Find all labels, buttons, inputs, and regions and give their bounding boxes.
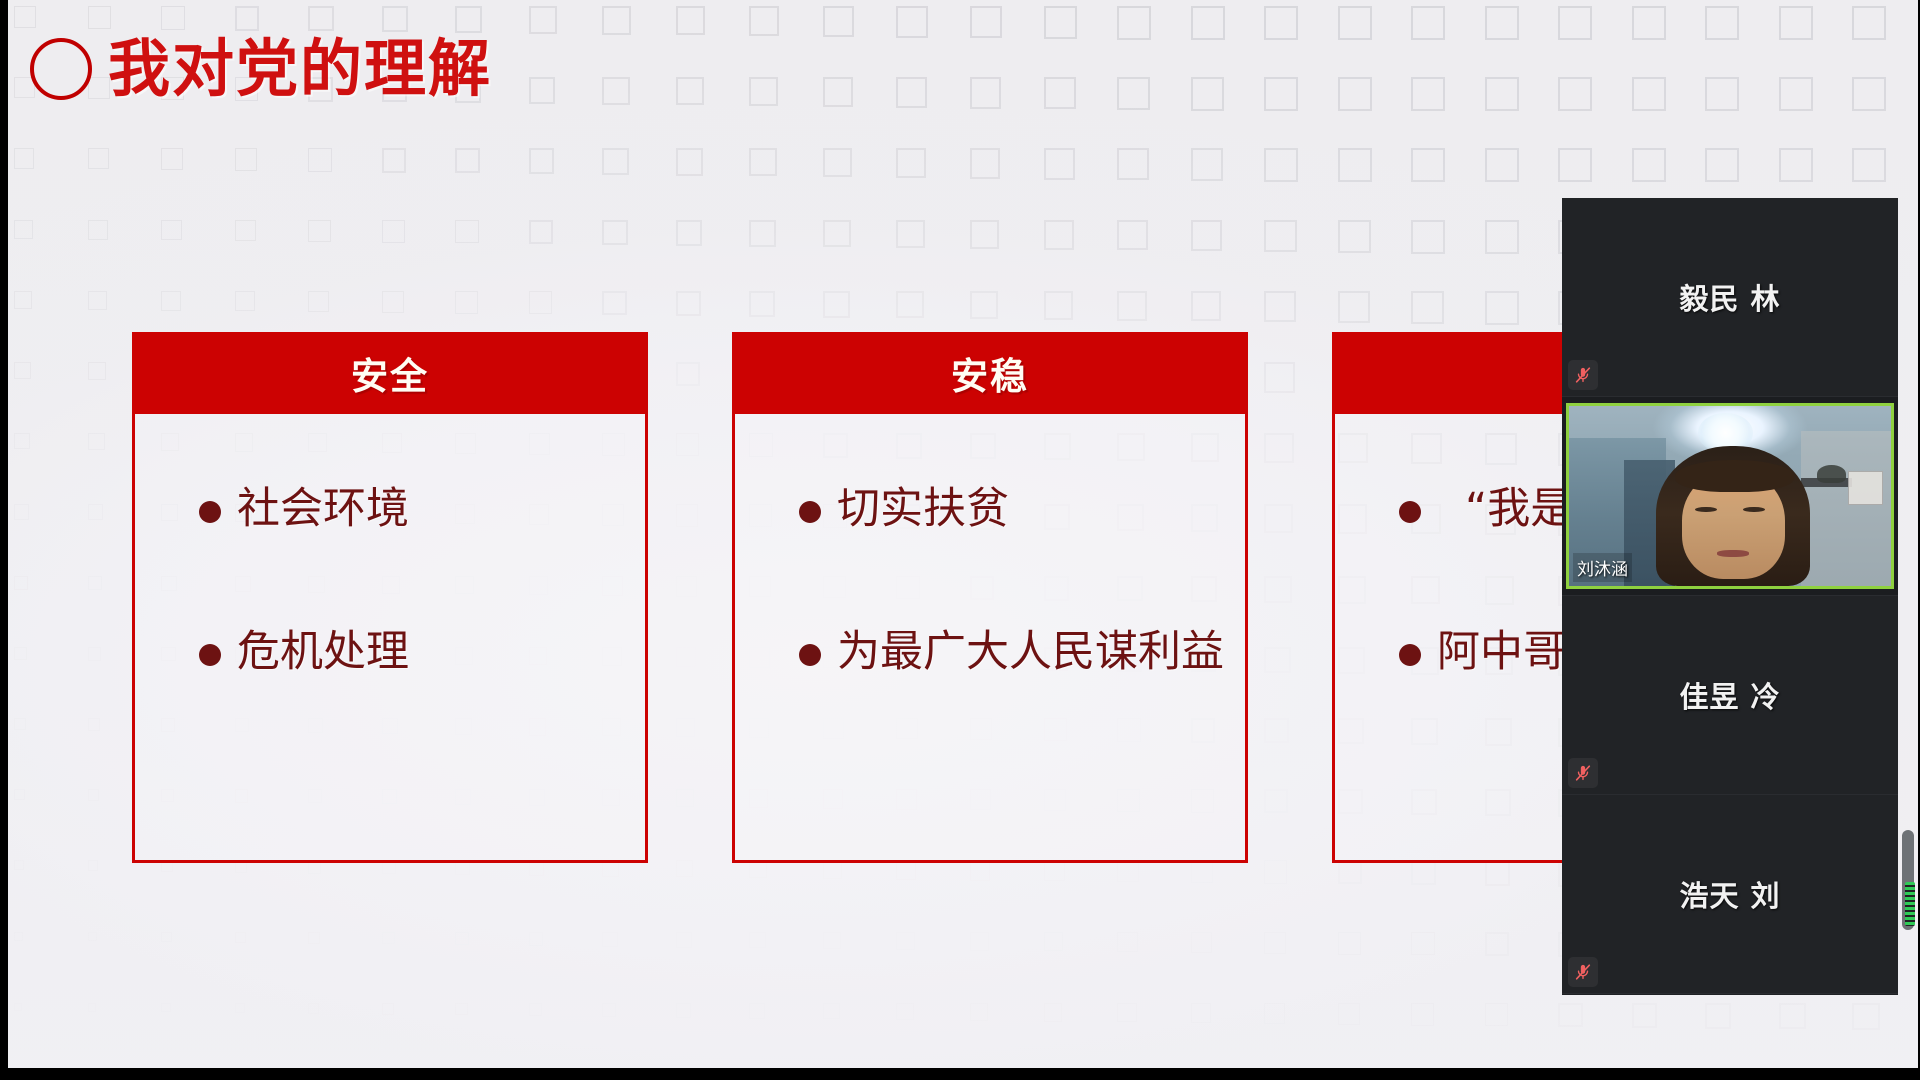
- bullet-dot-icon: [199, 644, 221, 666]
- background-square: [529, 6, 557, 34]
- participant-filmstrip[interactable]: 毅民 林: [1562, 198, 1898, 995]
- page-title: 我对党的理解: [108, 38, 492, 100]
- scrollbar-thumb[interactable]: [1902, 830, 1914, 930]
- background-square: [1485, 77, 1519, 111]
- background-square: [896, 6, 928, 38]
- background-square: [823, 860, 842, 879]
- background-square: [1191, 1003, 1212, 1024]
- background-square: [1044, 291, 1073, 320]
- background-square: [1779, 77, 1813, 111]
- background-square: [382, 148, 406, 172]
- background-square: [602, 6, 631, 35]
- background-square: [455, 932, 469, 946]
- background-square: [1117, 291, 1147, 321]
- background-square: [1779, 1003, 1806, 1030]
- background-square: [1632, 1003, 1657, 1028]
- background-square: [382, 1003, 394, 1015]
- background-square: [88, 860, 99, 871]
- background-square: [1411, 291, 1444, 324]
- background-square: [896, 77, 927, 108]
- background-square: [308, 932, 320, 944]
- background-square: [970, 220, 999, 249]
- participant-tile[interactable]: 佳昱 冷: [1562, 596, 1898, 795]
- background-square: [676, 291, 701, 316]
- background-square: [1117, 6, 1151, 40]
- background-square: [749, 77, 778, 106]
- background-square: [1338, 6, 1372, 40]
- background-square: [1044, 77, 1076, 109]
- background-square: [1485, 291, 1519, 325]
- background-square: [602, 148, 629, 175]
- card-body-stability: 切实扶贫 为最广大人民谋利益: [732, 414, 1248, 863]
- mic-muted-icon: [1568, 758, 1598, 788]
- background-square: [1117, 1003, 1137, 1023]
- background-square: [529, 932, 544, 947]
- background-square: [676, 77, 704, 105]
- background-square: [1338, 1003, 1360, 1025]
- background-square: [1411, 6, 1445, 40]
- background-square: [1117, 148, 1149, 180]
- background-square: [676, 1003, 691, 1018]
- background-square: [1338, 860, 1362, 884]
- background-square: [529, 77, 556, 104]
- background-square: [14, 504, 29, 519]
- card-header-stability: 安稳: [732, 332, 1248, 414]
- background-square: [455, 6, 482, 33]
- background-square: [1411, 860, 1436, 885]
- background-square: [1705, 148, 1739, 182]
- participant-name: 毅民 林: [1679, 276, 1780, 318]
- background-square: [749, 148, 777, 176]
- background-square: [1779, 6, 1813, 40]
- background-square: [235, 220, 257, 242]
- background-square: [1044, 220, 1074, 250]
- background-square: [235, 932, 246, 943]
- bullet-label: 切实扶贫: [837, 486, 1009, 533]
- background-square: [1191, 860, 1214, 883]
- background-square: [749, 860, 767, 878]
- audio-level-indicator: [1905, 882, 1915, 926]
- background-square: [382, 291, 404, 313]
- background-square: [970, 6, 1002, 38]
- bullet-label: 社会环境: [237, 486, 409, 533]
- background-square: [1117, 220, 1148, 251]
- background-square: [14, 1003, 22, 1011]
- background-square: [235, 148, 258, 171]
- card-header-safety: 安全: [132, 332, 648, 414]
- background-square: [88, 433, 105, 450]
- participant-name: 佳昱 冷: [1679, 674, 1780, 716]
- background-square: [88, 576, 103, 591]
- background-square: [88, 647, 102, 661]
- background-square: [970, 932, 989, 951]
- background-square: [970, 291, 998, 319]
- background-square: [308, 6, 333, 31]
- background-square: [749, 6, 779, 36]
- background-square: [14, 718, 26, 730]
- background-square: [1485, 1003, 1509, 1027]
- bullet-label: “我是: [1465, 486, 1573, 533]
- background-square: [749, 291, 775, 317]
- background-square: [1117, 77, 1150, 110]
- background-square: [1338, 932, 1361, 955]
- background-square: [88, 1003, 97, 1012]
- background-square: [1044, 932, 1064, 952]
- background-square: [1338, 220, 1371, 253]
- mic-muted-icon: [1568, 957, 1598, 987]
- background-square: [1485, 6, 1519, 40]
- background-square: [602, 77, 630, 105]
- participant-tile[interactable]: 毅民 林: [1562, 198, 1898, 397]
- background-square: [88, 362, 106, 380]
- background-square: [308, 148, 331, 171]
- card-body-safety: 社会环境 危机处理: [132, 414, 648, 863]
- background-square: [1779, 148, 1813, 182]
- card-header-label: 安稳: [951, 346, 1029, 400]
- webcam-person-bangs: [1675, 460, 1794, 492]
- background-square: [1558, 6, 1592, 40]
- background-square: [970, 77, 1001, 108]
- slide-title-row: 我对党的理解: [30, 38, 492, 100]
- circle-outline-icon: [30, 38, 92, 100]
- bullet-dot-icon: [199, 501, 221, 523]
- background-square: [1264, 6, 1298, 40]
- background-square: [1191, 77, 1225, 111]
- background-square: [676, 6, 705, 35]
- background-square: [1338, 291, 1370, 323]
- background-square: [308, 1003, 319, 1014]
- background-square: [14, 576, 28, 590]
- background-square: [161, 932, 172, 943]
- background-square: [970, 1003, 988, 1021]
- background-square: [1264, 148, 1298, 182]
- background-square: [1632, 6, 1666, 40]
- background-square: [823, 77, 853, 107]
- background-square: [1264, 1003, 1285, 1024]
- background-square: [749, 1003, 765, 1019]
- webcam-person-mouth: [1717, 550, 1749, 557]
- background-square: [235, 291, 256, 312]
- background-square: [14, 860, 24, 870]
- background-square: [88, 504, 104, 520]
- background-square: [14, 932, 23, 941]
- list-item: 社会环境: [199, 486, 645, 533]
- background-square: [823, 220, 851, 248]
- list-item: 为最广大人民谋利益: [799, 629, 1245, 676]
- window-edge-bottom: [0, 1068, 1920, 1080]
- background-square: [1558, 1003, 1582, 1027]
- background-square: [455, 220, 479, 244]
- background-square: [529, 220, 554, 245]
- background-square: [88, 718, 101, 731]
- background-square: [1338, 148, 1372, 182]
- background-square: [676, 148, 703, 175]
- background-square: [602, 220, 628, 246]
- background-square: [823, 1003, 840, 1020]
- background-square: [161, 1003, 171, 1013]
- background-square: [455, 1003, 468, 1016]
- background-square: [970, 860, 990, 880]
- scrollbar-vertical[interactable]: [1900, 830, 1916, 1060]
- background-square: [1705, 6, 1739, 40]
- shared-screen: 我对党的理解 安全 社会环境 危机处理: [0, 0, 1920, 1080]
- bullet-dot-icon: [799, 501, 821, 523]
- background-square: [1264, 291, 1296, 323]
- background-square: [161, 220, 182, 241]
- participant-name: 刘沐涵: [1573, 553, 1632, 582]
- background-square: [1191, 6, 1225, 40]
- participant-tile[interactable]: 浩天 刘: [1562, 795, 1898, 994]
- background-square: [749, 220, 776, 247]
- background-square: [676, 220, 702, 246]
- background-square: [1632, 148, 1666, 182]
- background-square: [1264, 77, 1298, 111]
- bullet-dot-icon: [1399, 501, 1421, 523]
- background-square: [896, 932, 914, 950]
- background-square: [161, 291, 181, 311]
- background-square: [455, 291, 478, 314]
- background-square: [382, 220, 405, 243]
- background-square: [14, 291, 32, 309]
- background-square: [88, 6, 111, 29]
- background-square: [1044, 6, 1077, 39]
- background-square: [529, 148, 555, 174]
- background-square: [1852, 77, 1886, 111]
- background-square: [1044, 860, 1065, 881]
- background-square: [1705, 1003, 1731, 1029]
- background-square: [602, 1003, 616, 1017]
- background-square: [88, 291, 107, 310]
- background-square: [1044, 148, 1075, 179]
- background-square: [14, 220, 33, 239]
- window-edge-left: [0, 0, 8, 1080]
- background-square: [161, 6, 185, 30]
- background-square: [1117, 932, 1138, 953]
- background-square: [1264, 932, 1286, 954]
- background-square: [676, 932, 692, 948]
- list-item: 危机处理: [199, 629, 645, 676]
- background-square: [896, 1003, 913, 1020]
- background-square: [382, 6, 408, 32]
- background-square: [1411, 77, 1445, 111]
- background-square: [1558, 148, 1592, 182]
- background-square: [1191, 220, 1223, 252]
- background-square: [1044, 1003, 1063, 1022]
- background-square: [1411, 220, 1445, 254]
- background-square: [14, 789, 25, 800]
- participant-name: 浩天 刘: [1679, 873, 1780, 915]
- card-header-label: 安全: [351, 346, 429, 400]
- background-square: [896, 291, 924, 319]
- list-item: 切实扶贫: [799, 486, 1245, 533]
- participant-tile-active-speaker[interactable]: 刘沐涵: [1562, 397, 1898, 596]
- webcam-video: 刘沐涵: [1566, 403, 1894, 589]
- background-square: [14, 362, 31, 379]
- bullet-dot-icon: [799, 644, 821, 666]
- background-square: [823, 291, 850, 318]
- background-square: [308, 291, 329, 312]
- background-square: [749, 932, 766, 949]
- background-square: [14, 433, 30, 449]
- bullet-label: 为最广大人民谋利益: [837, 629, 1224, 676]
- background-square: [382, 932, 395, 945]
- background-square: [1485, 860, 1511, 886]
- webcam-bg-wall-right: [1801, 431, 1891, 586]
- background-square: [896, 860, 915, 879]
- mic-muted-icon: [1568, 360, 1598, 390]
- webcam-bg-picture-frame: [1848, 471, 1883, 505]
- background-square: [88, 932, 98, 942]
- background-square: [1411, 1003, 1434, 1026]
- background-square: [1191, 932, 1213, 954]
- background-square: [970, 148, 1000, 178]
- card-safety: 安全 社会环境 危机处理: [132, 332, 648, 863]
- background-square: [161, 148, 183, 170]
- background-square: [455, 148, 480, 173]
- background-square: [1264, 220, 1297, 253]
- background-square: [529, 1003, 543, 1017]
- background-square: [308, 220, 330, 242]
- background-square: [235, 1003, 245, 1013]
- background-square: [896, 148, 926, 178]
- webcam-bg-plant: [1817, 465, 1846, 483]
- background-square: [14, 647, 27, 660]
- card-stability: 安稳 切实扶贫 为最广大人民谋利益: [732, 332, 1248, 863]
- background-square: [1852, 148, 1886, 182]
- background-square: [1852, 1003, 1880, 1031]
- background-square: [1485, 932, 1510, 957]
- background-square: [1411, 148, 1445, 182]
- background-square: [1117, 860, 1139, 882]
- background-square: [88, 148, 109, 169]
- background-square: [896, 220, 925, 249]
- background-square: [14, 6, 36, 28]
- background-square: [1338, 77, 1372, 111]
- background-square: [1264, 860, 1287, 883]
- bullet-dot-icon: [1399, 644, 1421, 666]
- bullet-label: 危机处理: [237, 629, 409, 676]
- background-square: [1485, 148, 1519, 182]
- background-square: [602, 291, 627, 316]
- background-square: [235, 6, 260, 31]
- background-square: [823, 932, 841, 950]
- background-square: [823, 148, 852, 177]
- background-square: [529, 291, 553, 315]
- background-square: [602, 932, 617, 947]
- background-square: [823, 6, 854, 37]
- background-square: [1411, 932, 1435, 956]
- background-square: [1705, 77, 1739, 111]
- background-square: [1485, 220, 1519, 254]
- background-square: [14, 148, 34, 168]
- background-square: [1191, 291, 1222, 322]
- background-square: [88, 789, 100, 801]
- background-square: [1632, 77, 1666, 111]
- background-square: [1852, 6, 1886, 40]
- background-square: [1191, 148, 1224, 181]
- background-square: [88, 220, 108, 240]
- background-square: [1558, 77, 1592, 111]
